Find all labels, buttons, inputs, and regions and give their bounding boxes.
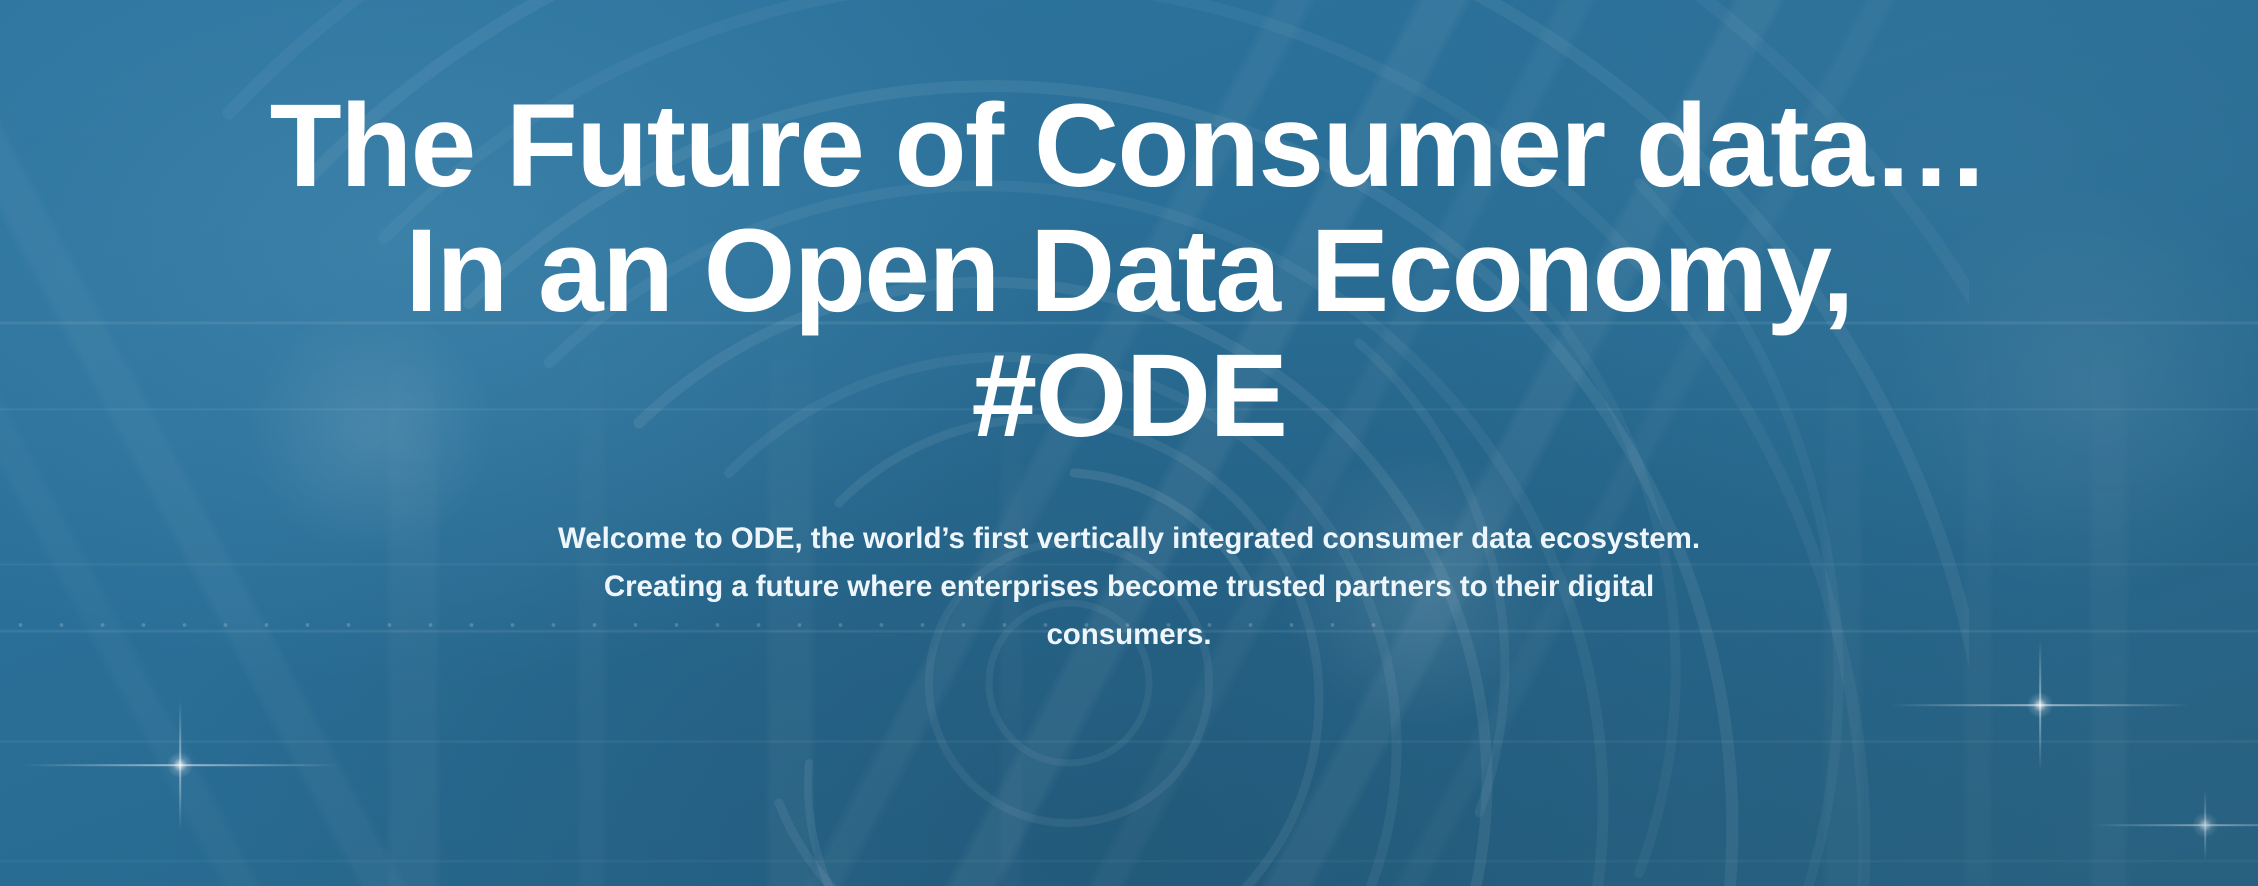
hero-banner: The Future of Consumer data… In an Open … [0, 0, 2258, 886]
hero-subtitle: Welcome to ODE, the world’s first vertic… [529, 515, 1729, 658]
page-title-line-3-hashtag: #ODE [49, 334, 2209, 459]
page-title-line-2: In an Open Data Economy, [49, 209, 2209, 334]
page-title-line-1: The Future of Consumer data… [49, 84, 2209, 209]
hero-content: The Future of Consumer data… In an Open … [0, 0, 2258, 886]
page-title: The Future of Consumer data… In an Open … [49, 84, 2209, 459]
